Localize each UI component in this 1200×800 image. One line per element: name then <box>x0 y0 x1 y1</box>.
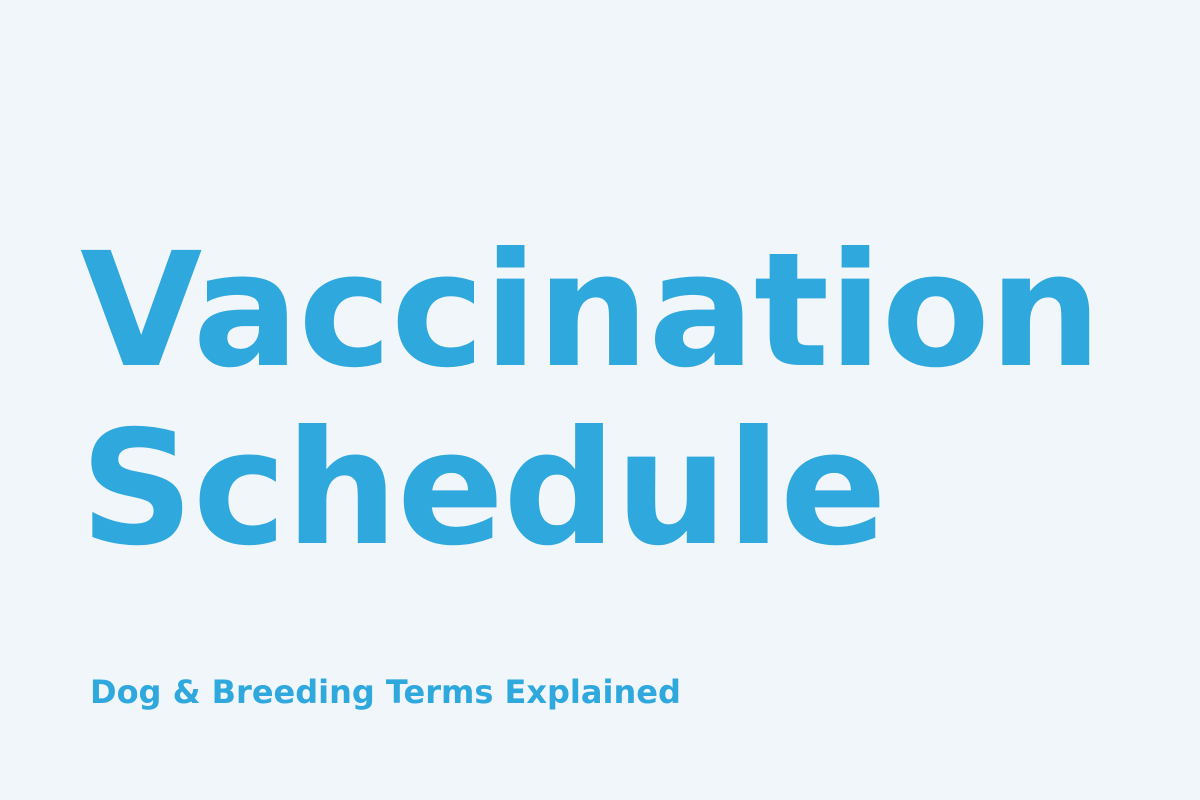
page-title: Vaccination Schedule <box>80 222 1120 578</box>
title-line-primary: Vaccination <box>80 222 1120 400</box>
title-slide: Vaccination Schedule Dog & Breeding Term… <box>0 0 1200 800</box>
page-subtitle: Dog & Breeding Terms Explained <box>90 672 681 712</box>
title-line-secondary: Schedule <box>80 400 1120 578</box>
